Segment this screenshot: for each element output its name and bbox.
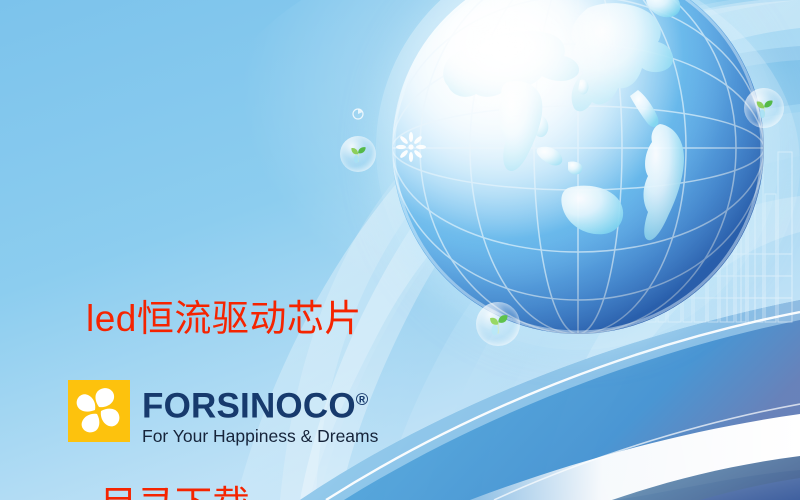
- logo-name-text: FORSINOCO: [142, 387, 356, 426]
- green-leaf-icon: [348, 144, 368, 164]
- sparkle-flower-icon: [396, 132, 426, 162]
- promo-banner: led恒流驱动芯片 目录下载 FORSINOCO® For Your Happi…: [0, 0, 800, 500]
- logo-tagline: For Your Happiness & Dreams: [142, 426, 378, 446]
- green-leaf-icon: [753, 97, 775, 119]
- sparkle-dot-icon: [352, 108, 364, 120]
- headline-line-1: led恒流驱动芯片: [86, 288, 516, 350]
- registered-trademark-icon: ®: [356, 390, 369, 409]
- pinwheel-flower-icon: [68, 380, 130, 442]
- company-logo[interactable]: FORSINOCO® For Your Happiness & Dreams: [68, 380, 378, 446]
- logo-mark: [68, 380, 130, 442]
- logo-text: FORSINOCO® For Your Happiness & Dreams: [142, 380, 378, 446]
- headline: led恒流驱动芯片 目录下载: [86, 164, 516, 500]
- logo-name: FORSINOCO®: [142, 382, 378, 425]
- headline-line-2: 目录下载: [86, 474, 516, 500]
- bubble-eco-right: [744, 88, 784, 128]
